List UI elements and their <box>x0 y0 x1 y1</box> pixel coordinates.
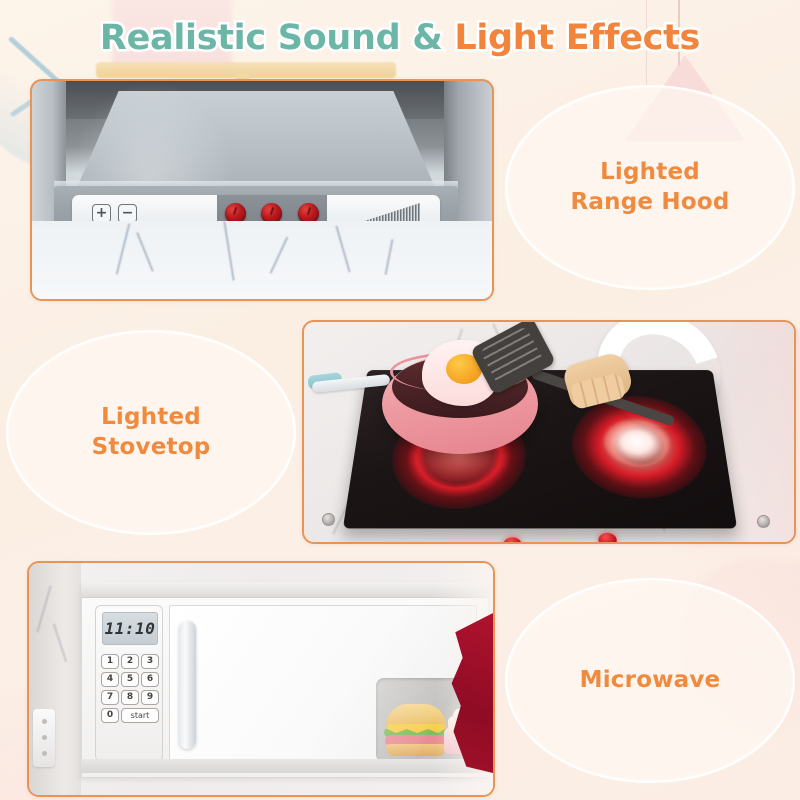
cabinet-knob-dot <box>42 735 47 740</box>
marble-vein <box>223 221 234 281</box>
keypad-key-9[interactable]: 9 <box>141 690 159 705</box>
marble-vein <box>36 586 51 633</box>
microwave-bottom-trim <box>81 759 489 773</box>
keypad-key-4[interactable]: 4 <box>101 672 119 687</box>
keypad-key-6[interactable]: 6 <box>141 672 159 687</box>
feature-label-stovetop: Lighted Stovetop <box>6 330 296 535</box>
microwave-clock-value: 11:10 <box>105 619 156 638</box>
poster-stage: Realistic Sound & Light Effects Lighted … <box>0 0 800 800</box>
photo-panel-microwave: 11:10 1 2 3 4 5 6 7 8 9 0 start <box>27 561 495 797</box>
page-title: Realistic Sound & Light Effects <box>0 18 800 58</box>
keypad-key-5[interactable]: 5 <box>121 672 139 687</box>
keypad-key-7[interactable]: 7 <box>101 690 119 705</box>
feature-label-microwave: Microwave <box>505 578 795 783</box>
stovetop-label-line-2: Stovetop <box>92 433 211 462</box>
range-hood-label-line-2: Range Hood <box>571 188 730 217</box>
range-hood-light-buttons: + − <box>92 204 137 223</box>
microwave-label-line-1: Microwave <box>580 666 721 695</box>
cooktop-screw-left <box>322 513 335 526</box>
marble-vein <box>53 624 67 663</box>
marble-vein <box>335 226 350 273</box>
microwave-top-trim <box>81 582 489 598</box>
photo-panel-range-hood: + − <box>30 79 494 301</box>
keypad-key-1[interactable]: 1 <box>101 654 119 669</box>
marble-vein <box>385 239 393 275</box>
stovetop-indicator-light-2[interactable] <box>598 533 617 544</box>
microwave-display: 11:10 <box>102 612 158 645</box>
cabinet-knob-dot <box>42 751 47 756</box>
plus-button[interactable]: + <box>92 204 111 223</box>
marble-vein <box>270 237 288 274</box>
minus-button[interactable]: − <box>118 204 137 223</box>
range-hood-marble-counter <box>32 221 492 299</box>
keypad-key-8[interactable]: 8 <box>121 690 139 705</box>
microwave-control-panel[interactable]: 11:10 1 2 3 4 5 6 7 8 9 0 start <box>95 605 163 762</box>
keypad-key-0[interactable]: 0 <box>101 708 119 723</box>
range-hood-vent-grille <box>358 203 420 223</box>
microwave-door-handle[interactable] <box>179 621 196 749</box>
cabinet-knob-dot <box>42 719 47 724</box>
title-segment-orange: Light Effects <box>454 18 700 58</box>
marble-vein <box>136 232 153 272</box>
feature-label-range-hood: Lighted Range Hood <box>505 85 795 290</box>
stovetop-label-line-1: Lighted <box>92 403 211 432</box>
microwave-door[interactable] <box>169 605 477 762</box>
title-segment-teal: Realistic Sound & <box>100 18 443 58</box>
range-hood-label-line-1: Lighted <box>571 158 730 187</box>
keypad-key-2[interactable]: 2 <box>121 654 139 669</box>
photo-panel-stovetop <box>302 320 796 544</box>
keypad-start-button[interactable]: start <box>121 708 159 723</box>
cooktop-screw-right <box>757 515 770 528</box>
marble-vein <box>116 224 131 275</box>
bg-wood-shelf-decor <box>96 62 396 78</box>
keypad-key-3[interactable]: 3 <box>141 654 159 669</box>
microwave-keypad[interactable]: 1 2 3 4 5 6 7 8 9 0 start <box>101 654 159 723</box>
cabinet-knob-strip[interactable] <box>33 709 55 767</box>
